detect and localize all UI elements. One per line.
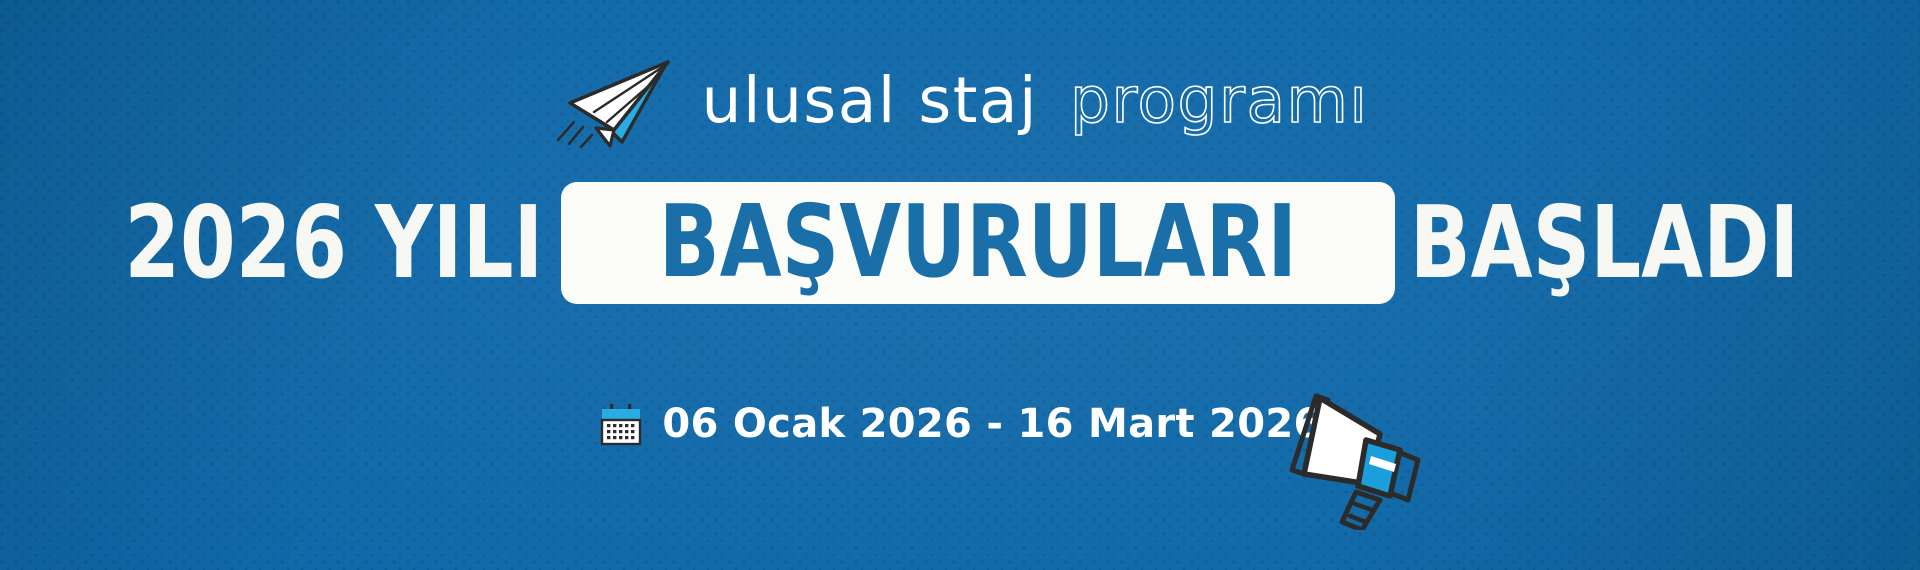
promo-banner: ulusal staj programı 2026 YILI BAŞVURULA… [0, 0, 1920, 570]
brand-lockup: ulusal staj programı [0, 52, 1920, 148]
headline-part-boxed: BAŞVURULARI [659, 192, 1297, 292]
headline-highlight-box: BAŞVURULARI [561, 182, 1395, 304]
paper-plane-icon [552, 56, 684, 148]
headline-part-left: 2026 YILI [124, 191, 543, 295]
logo-word-solid: ulusal staj [702, 69, 1038, 132]
logo-word-outline: programı [1070, 69, 1368, 132]
headline: 2026 YILI BAŞVURULARI BAŞLADI [0, 182, 1920, 304]
megaphone-icon [1276, 378, 1452, 530]
date-range-row: 06 Ocak 2026 - 16 Mart 2026 [0, 400, 1920, 448]
headline-part-right: BAŞLADI [1410, 191, 1800, 295]
calendar-icon [598, 402, 644, 448]
date-range-text: 06 Ocak 2026 - 16 Mart 2026 [662, 401, 1321, 447]
